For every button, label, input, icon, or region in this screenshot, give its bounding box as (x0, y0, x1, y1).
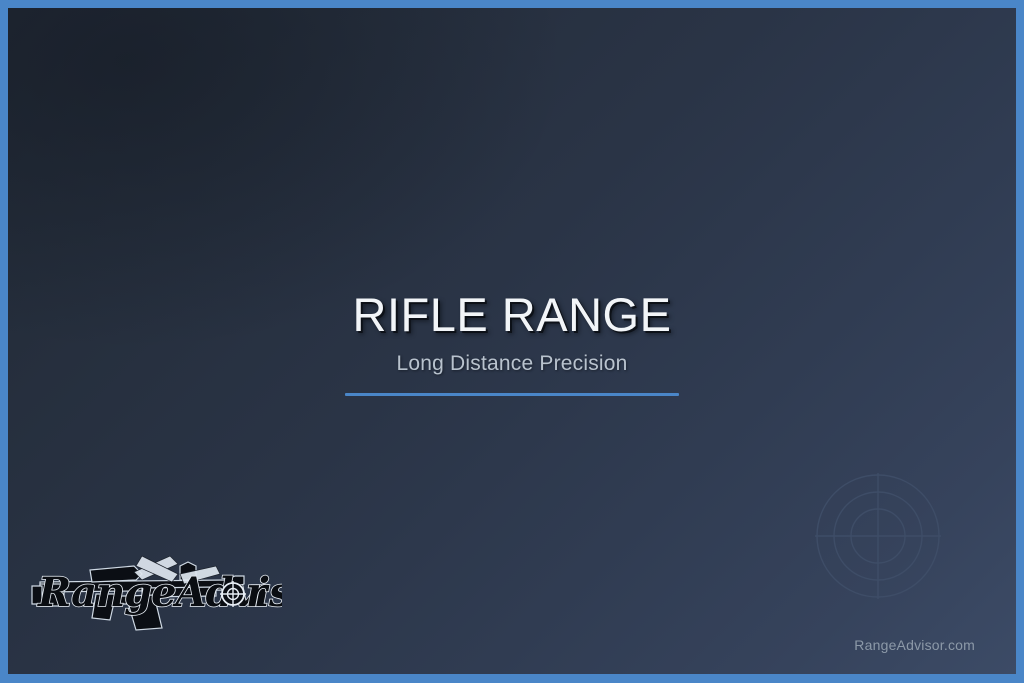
slide-frame: RIFLE RANGE Long Distance Precision (0, 0, 1024, 683)
title-block: RIFLE RANGE Long Distance Precision (8, 291, 1016, 396)
slide-canvas: RIFLE RANGE Long Distance Precision (8, 8, 1016, 674)
accent-divider (345, 393, 679, 396)
page-subtitle: Long Distance Precision (8, 352, 1016, 376)
page-title: RIFLE RANGE (8, 291, 1016, 338)
logo-wordmark-part-1: Range (37, 569, 176, 616)
crosshair-target-icon (815, 473, 941, 599)
watermark-text: RangeAdvisor.com (854, 637, 975, 653)
brand-logo: RangeAdvis r (30, 544, 282, 640)
